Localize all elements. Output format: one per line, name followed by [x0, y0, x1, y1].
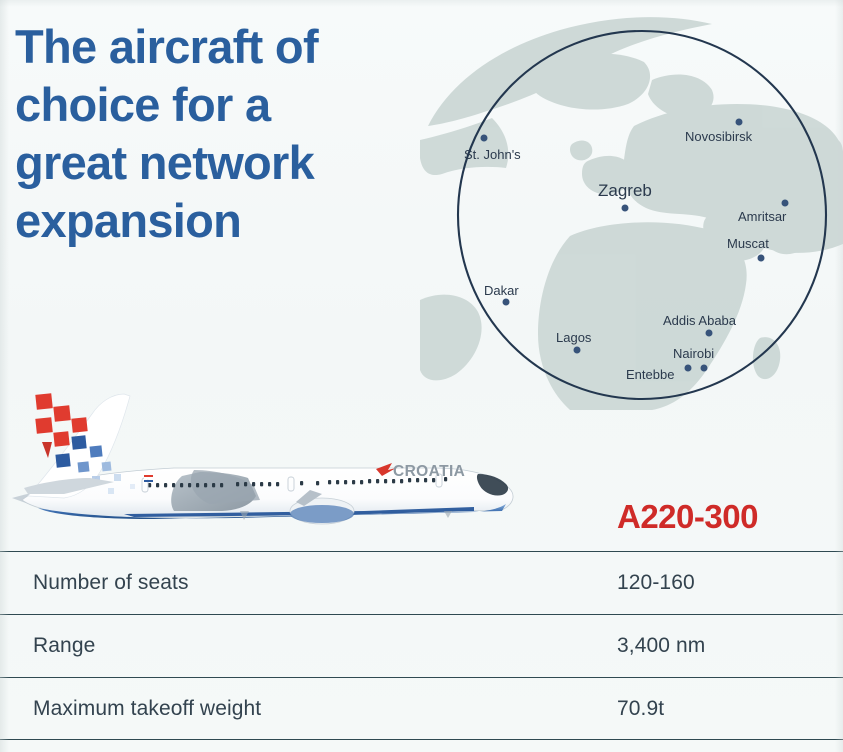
city-dot [782, 200, 789, 207]
flag-marking [144, 475, 153, 482]
headline-line-4: expansion [15, 192, 415, 250]
city-label: St. John's [464, 148, 521, 162]
city-label: Lagos [556, 331, 591, 345]
spec-label: Maximum takeoff weight [33, 697, 261, 721]
city-dot [706, 330, 713, 337]
city-label: Nairobi [673, 347, 714, 361]
city-label: Addis Ababa [663, 314, 736, 328]
city-label: Muscat [727, 237, 769, 251]
infographic-page: The aircraft of choice for a great netwo… [0, 0, 843, 752]
city-label: Novosibirsk [685, 130, 752, 144]
spec-value: 120-160 [617, 571, 695, 595]
aircraft-model-title: A220-300 [617, 498, 758, 536]
spec-value: 3,400 nm [617, 634, 705, 658]
city-label: Dakar [484, 284, 519, 298]
route-range-globe: St. John'sNovosibirskZagrebAmritsarMusca… [420, 8, 843, 410]
city-dot [685, 365, 692, 372]
table-row: Maximum takeoff weight 70.9t [0, 677, 843, 740]
spec-label: Range [33, 634, 95, 658]
specifications-table: Number of seats 120-160 Range 3,400 nm M… [0, 551, 843, 740]
city-label: Zagreb [598, 184, 652, 198]
table-row: Number of seats 120-160 [0, 551, 843, 614]
airline-title-label: CROATIA [393, 463, 465, 480]
a220-300-side-view: CROATIA [4, 378, 529, 540]
city-dot [574, 347, 581, 354]
city-dot [758, 255, 765, 262]
spec-value: 70.9t [617, 697, 664, 721]
headline-line-1: The aircraft of [15, 18, 415, 76]
city-label: Entebbe [626, 368, 674, 382]
table-row: Range 3,400 nm [0, 614, 843, 677]
city-dot [701, 365, 708, 372]
city-dot [503, 299, 510, 306]
headline-line-2: choice for a [15, 76, 415, 134]
headline-line-3: great network [15, 134, 415, 192]
city-label: Amritsar [738, 210, 786, 224]
city-dot [481, 135, 488, 142]
city-dot [736, 119, 743, 126]
aircraft-illustration: CROATIA [4, 378, 529, 540]
spec-label: Number of seats [33, 571, 189, 595]
aircraft-nose-gear [444, 511, 452, 518]
city-dot [622, 205, 629, 212]
page-title: The aircraft of choice for a great netwo… [15, 18, 415, 250]
